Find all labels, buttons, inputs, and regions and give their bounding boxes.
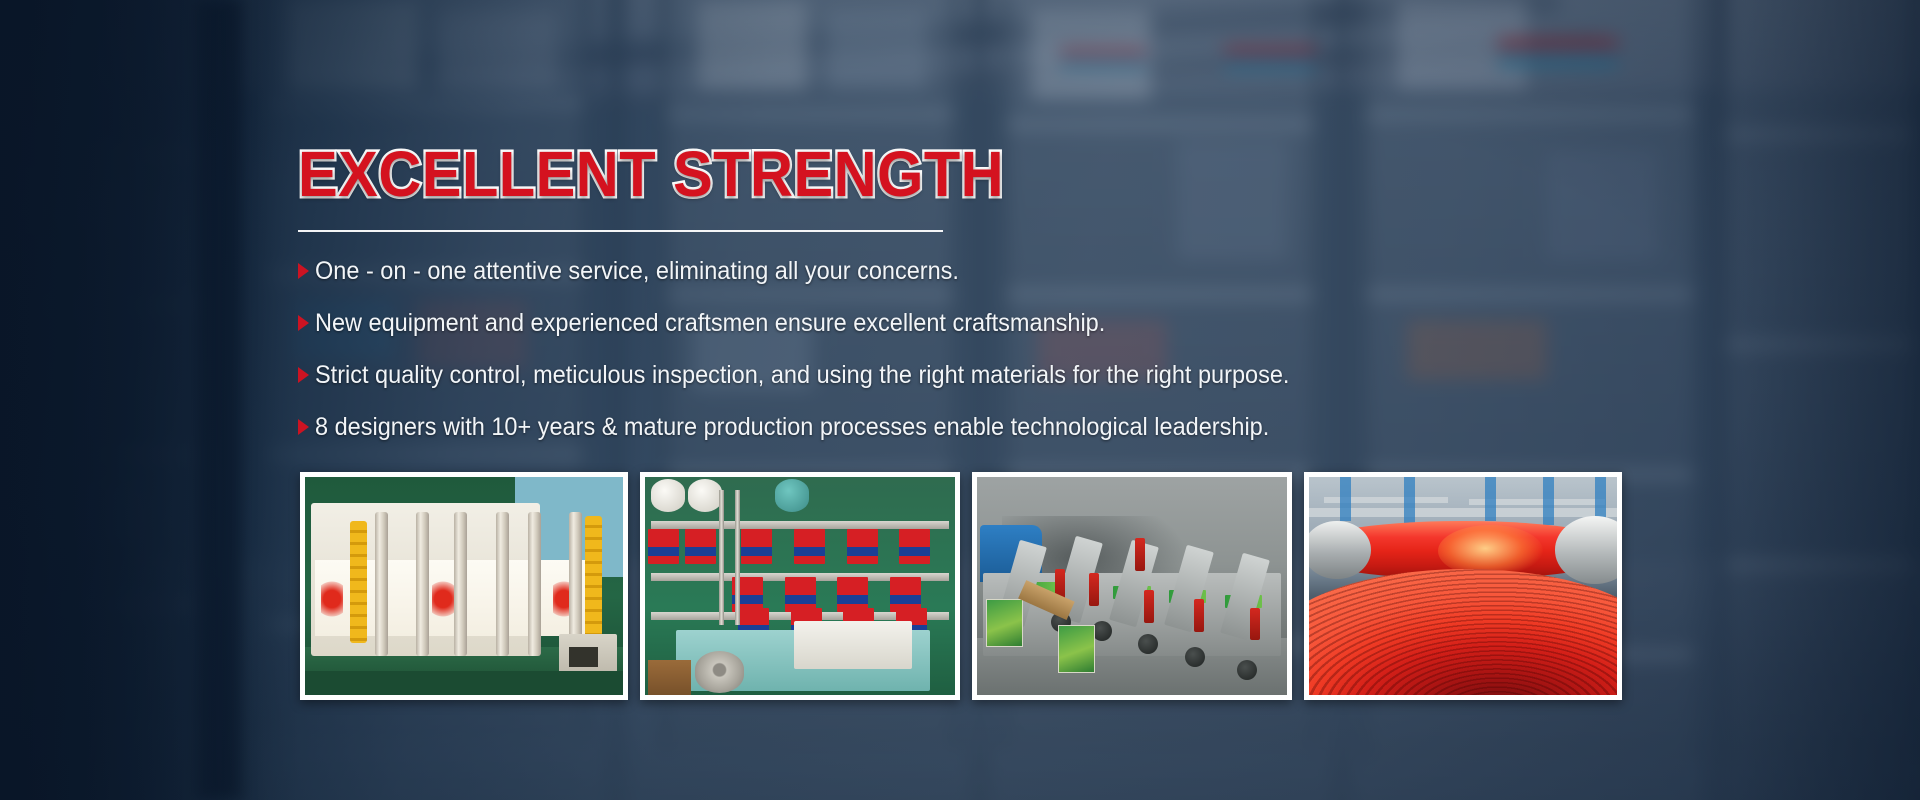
gallery-photo-packaging-line xyxy=(640,472,960,700)
photo-folder-gluer-image xyxy=(977,477,1287,695)
page-title: EXCELLENT STRENGTH xyxy=(298,142,1004,206)
promo-banner: EXCELLENT STRENGTH One - on - one attent… xyxy=(0,0,1920,800)
list-item-label: One - on - one attentive service, elimin… xyxy=(315,258,959,284)
gallery-photo-printing-press xyxy=(300,472,628,700)
triangle-right-icon xyxy=(298,315,309,331)
triangle-right-icon xyxy=(298,263,309,279)
list-item-label: New equipment and experienced craftsmen … xyxy=(315,310,1105,336)
title-divider xyxy=(298,230,943,232)
gallery-photo-folder-gluer xyxy=(972,472,1292,700)
list-item: 8 designers with 10+ years & mature prod… xyxy=(298,414,1398,440)
feature-list: One - on - one attentive service, elimin… xyxy=(298,258,1398,466)
list-item-label: Strict quality control, meticulous inspe… xyxy=(315,362,1289,388)
photo-printing-press-image xyxy=(305,477,623,695)
triangle-right-icon xyxy=(298,367,309,383)
list-item-label: 8 designers with 10+ years & mature prod… xyxy=(315,414,1269,440)
list-item: Strict quality control, meticulous inspe… xyxy=(298,362,1398,388)
photo-red-roll-image xyxy=(1309,477,1617,695)
gallery-photo-red-roll xyxy=(1304,472,1622,700)
photo-packaging-line-image xyxy=(645,477,955,695)
list-item: One - on - one attentive service, elimin… xyxy=(298,258,1398,284)
photo-gallery xyxy=(300,472,1622,700)
list-item: New equipment and experienced craftsmen … xyxy=(298,310,1398,336)
triangle-right-icon xyxy=(298,419,309,435)
